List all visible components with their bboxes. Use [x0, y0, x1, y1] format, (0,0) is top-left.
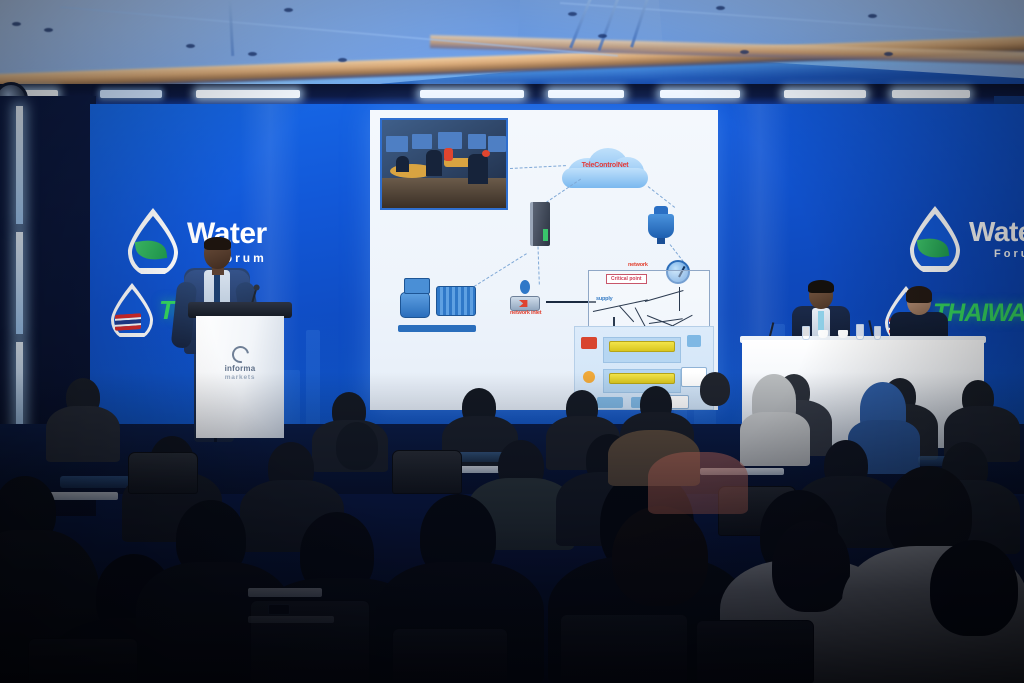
audience-chair [696, 620, 814, 683]
audience-head [700, 372, 730, 406]
photo-monitor [468, 134, 486, 149]
link-photo-to-cloud [510, 165, 566, 169]
audience-desk [248, 616, 334, 623]
sub-icon-source [583, 371, 595, 383]
podium-front-panel: informa markets [196, 316, 284, 438]
presentation-slide: TeleControlNet network inlet [370, 110, 718, 410]
photo-operator [396, 156, 409, 172]
audience-chair [392, 450, 462, 494]
audience-head [930, 540, 1018, 636]
coffee-cup [838, 330, 848, 338]
audience-chair [560, 614, 688, 683]
ceiling-downlight [598, 34, 607, 38]
rtu-controller-icon [530, 202, 550, 246]
led-bar [784, 90, 866, 98]
water-tank-icon [646, 206, 676, 244]
control-room-photo [380, 118, 508, 210]
coffee-cup [818, 330, 828, 338]
led-bar [420, 90, 524, 98]
chair-light-reflection [60, 476, 130, 488]
telecontrolnet-label: TeleControlNet [562, 162, 648, 169]
thai-flag-droplet-icon [110, 283, 154, 337]
ceiling-downlight [338, 58, 347, 62]
ceiling-downlight [716, 6, 725, 10]
podium-lectern: informa markets [196, 302, 284, 438]
photo-monitor [438, 132, 462, 149]
audience-chair [128, 452, 198, 494]
audience-head [772, 520, 850, 612]
water-forum-line1: Water [969, 218, 1024, 246]
ceiling-downlight [186, 44, 195, 48]
photo-monitor [488, 136, 506, 152]
ceiling-downlight [740, 50, 749, 54]
water-glass [802, 326, 810, 340]
photo-operator-highvis [444, 148, 453, 161]
sub-bar-processing [609, 341, 675, 352]
link-cloud-to-tank [648, 186, 675, 208]
sub-icon-device [687, 335, 701, 347]
water-forum-logo-right: Water Forum [908, 206, 1024, 272]
water-glass [874, 326, 881, 340]
led-bar [892, 90, 970, 98]
audience-head [336, 422, 378, 470]
ceiling-downlight [44, 28, 53, 32]
ceiling-downlight [248, 52, 257, 56]
audience-head-brown-hair [612, 506, 708, 606]
informa-brand-name: informa [225, 364, 256, 373]
audience-chair [392, 628, 508, 683]
photo-operator-helmet [482, 150, 490, 157]
led-bar [196, 90, 300, 98]
supply-node-label: supply [596, 296, 613, 302]
led-bar [548, 90, 624, 98]
audience-desk [248, 588, 322, 597]
network-inlet-label: network inlet [510, 310, 541, 316]
ceiling-downlight [568, 12, 577, 16]
audience-chair [28, 638, 138, 683]
panelist-hair [808, 280, 834, 293]
sub-icon-alert [581, 337, 597, 349]
conference-hall-scene: Water Forum THAI Water Forum THAIWATER [0, 0, 1024, 683]
speaker-hair [204, 237, 231, 250]
panelist-hair [906, 286, 932, 303]
photo-operator [468, 154, 488, 184]
photo-monitor [412, 134, 432, 149]
ceiling [0, 0, 1024, 96]
ceiling-downlight [284, 8, 293, 12]
water-forum-line2: Forum [969, 249, 1024, 260]
ceiling-downlight [12, 22, 21, 26]
informa-brand-sub: markets [225, 374, 256, 381]
sub-icon-node [597, 397, 623, 408]
water-glass [856, 324, 864, 340]
informa-markets-logo: informa markets [196, 346, 284, 381]
pump-station-icon [398, 278, 476, 332]
water-droplet-icon [908, 206, 962, 272]
informa-swirl-icon [228, 343, 252, 367]
sub-bar-database [609, 373, 675, 384]
backdrop-skyline-shape [306, 330, 320, 434]
audience-shoulders [740, 412, 810, 466]
audience-shoulders [46, 406, 120, 462]
ceiling-downlight [884, 52, 893, 56]
led-bar [660, 90, 740, 98]
critical-point-box: Critical point [606, 274, 647, 284]
photo-monitor [386, 136, 408, 152]
audience-shoulders-coral [648, 452, 748, 514]
photo-operator [426, 150, 442, 176]
link-rtu-to-valve [538, 246, 540, 284]
link-pump-to-rtu [474, 253, 527, 287]
water-forum-wordmark: Water Forum [969, 218, 1024, 260]
led-bar [100, 90, 162, 98]
wall-light-strip [16, 232, 23, 334]
wall-light-strip [16, 106, 23, 224]
ceiling-led-bar-row [0, 84, 1024, 106]
ceiling-downlight [868, 14, 877, 18]
network-label: network [628, 262, 648, 268]
smartphone-on-desk [268, 604, 290, 615]
